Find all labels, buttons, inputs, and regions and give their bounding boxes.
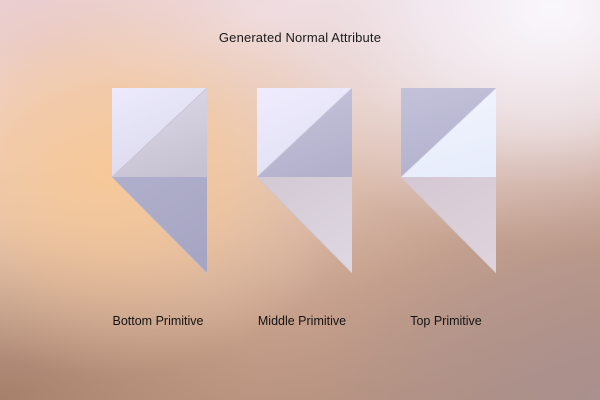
primitive-middle-mesh bbox=[257, 88, 352, 273]
figure-title: Generated Normal Attribute bbox=[0, 30, 600, 45]
caption-top-primitive: Top Primitive bbox=[351, 314, 541, 328]
figure-canvas: Generated Normal Attribute bbox=[0, 0, 600, 400]
primitive-bottom-mesh bbox=[112, 88, 207, 273]
primitive-middle bbox=[257, 88, 352, 273]
primitive-top-mesh bbox=[401, 88, 496, 273]
primitive-bottom bbox=[112, 88, 207, 273]
primitive-top bbox=[401, 88, 496, 273]
